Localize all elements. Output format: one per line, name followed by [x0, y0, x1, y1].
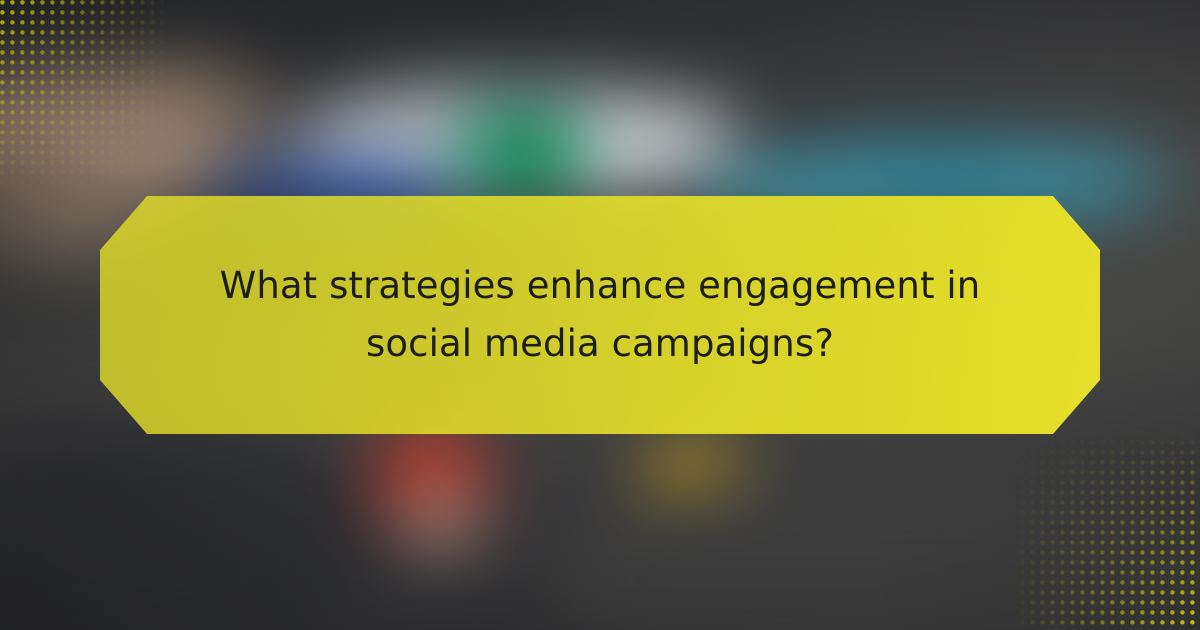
- question-text: What strategies enhance engagement in so…: [170, 257, 1030, 373]
- social-card-canvas: What strategies enhance engagement in so…: [0, 0, 1200, 630]
- question-badge: What strategies enhance engagement in so…: [100, 196, 1100, 434]
